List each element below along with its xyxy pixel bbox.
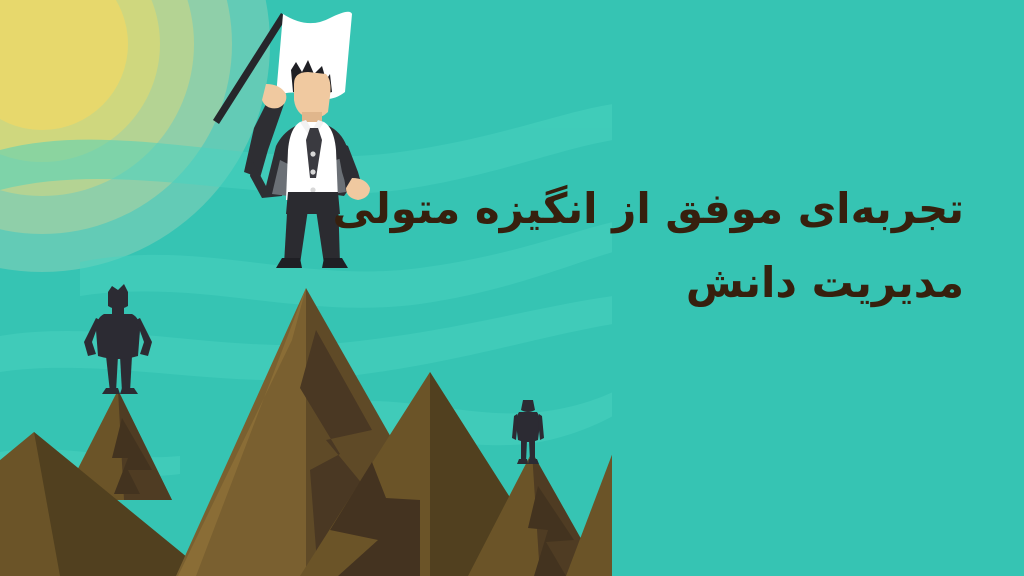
shirt-button-1	[310, 151, 315, 156]
right-silhouette-leg-right	[529, 440, 535, 462]
left-silhouette-neck	[112, 306, 124, 314]
businessman-hip	[286, 192, 340, 214]
shirt-button-3	[310, 187, 315, 192]
shirt-button-2	[310, 169, 315, 174]
right-silhouette-leg-left	[521, 440, 527, 462]
right-silhouette-head	[521, 400, 535, 412]
title-line-2: مدیریت دانش	[404, 246, 964, 320]
right-silhouette-torso	[516, 412, 540, 442]
title-line-1: تجربه‌ای موفق از انگیزه متولی	[404, 172, 964, 246]
slide-canvas: تجربه‌ای موفق از انگیزه متولی مدیریت دان…	[0, 0, 1024, 576]
left-silhouette-leg-right	[120, 356, 132, 392]
left-silhouette-torso	[96, 314, 140, 359]
businessman-head	[294, 72, 331, 118]
slide-title: تجربه‌ای موفق از انگیزه متولی مدیریت دان…	[404, 172, 964, 320]
